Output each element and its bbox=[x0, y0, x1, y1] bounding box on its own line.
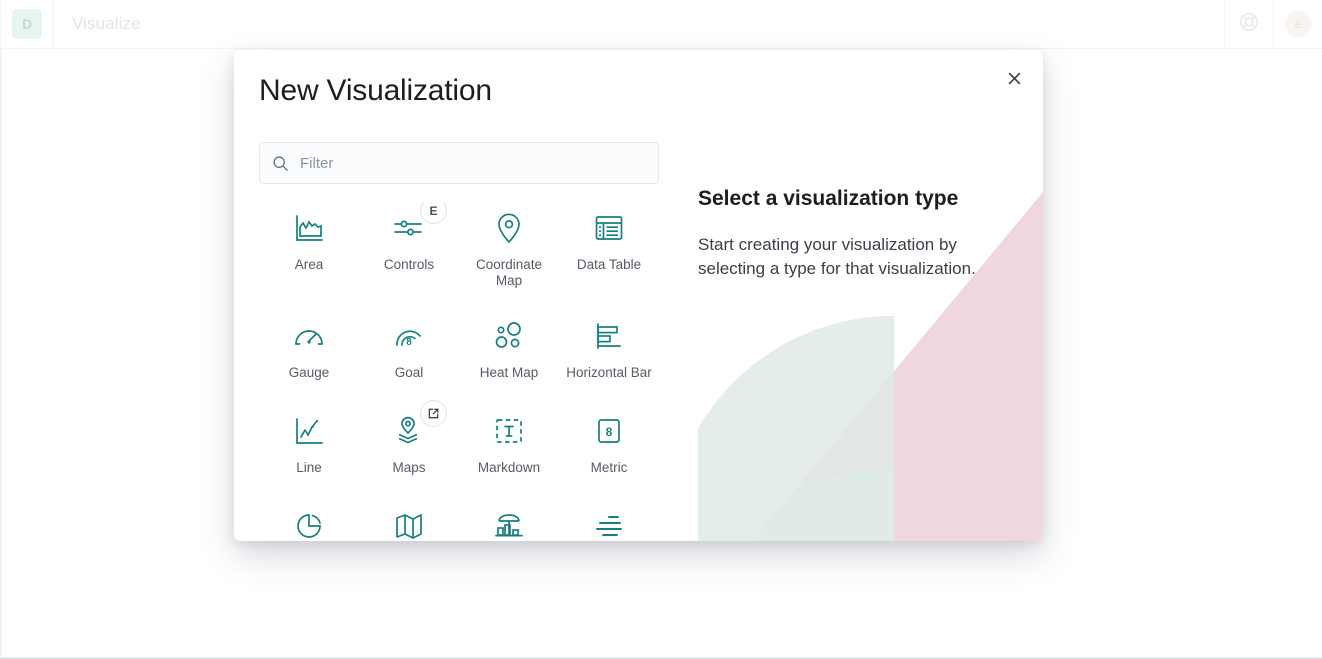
search-input[interactable] bbox=[300, 155, 646, 172]
close-button[interactable] bbox=[1003, 70, 1025, 92]
visualization-type-heat-map[interactable]: Heat Map bbox=[459, 310, 559, 384]
visualization-type-maps[interactable]: Maps bbox=[359, 405, 459, 479]
visualization-type-label: Goal bbox=[395, 365, 424, 381]
visualization-type-gauge[interactable]: Gauge bbox=[259, 310, 359, 384]
visualization-types-scroll-area[interactable]: Area EControls Coordinate Map Data Table bbox=[259, 202, 659, 541]
map-pin-icon bbox=[488, 208, 530, 248]
pie-chart-icon bbox=[288, 506, 330, 541]
info-panel-heading: Select a visualization type bbox=[698, 142, 1043, 211]
gauge-icon bbox=[288, 316, 330, 356]
visualization-type-label: Metric bbox=[591, 460, 628, 476]
external-link-icon bbox=[420, 400, 447, 427]
controls-icon: E bbox=[388, 208, 430, 248]
visualization-type-label: Controls bbox=[384, 257, 434, 273]
goal-icon: 8 bbox=[388, 316, 430, 356]
close-icon bbox=[1008, 72, 1021, 90]
visualization-type-line[interactable]: Line bbox=[259, 405, 359, 479]
visualization-type-label: Markdown bbox=[478, 460, 540, 476]
visualization-type-region-map[interactable] bbox=[359, 500, 459, 541]
app-root: D Visualize e New Vis bbox=[0, 0, 1322, 659]
visualization-type-label: Coordinate Map bbox=[463, 257, 555, 289]
help-button[interactable] bbox=[1225, 0, 1273, 49]
visualization-type-label: Heat Map bbox=[480, 365, 539, 381]
top-header: D Visualize e bbox=[0, 0, 1322, 49]
visualization-type-metric[interactable]: 8 Metric bbox=[559, 405, 659, 479]
page-left-edge bbox=[0, 49, 2, 657]
visualization-type-markdown[interactable]: Markdown bbox=[459, 405, 559, 479]
layered-map-icon bbox=[388, 411, 430, 451]
visualization-type-coordinate-map[interactable]: Coordinate Map bbox=[459, 202, 559, 289]
search-icon bbox=[272, 155, 289, 172]
visualization-type-horizontal-bar[interactable]: Horizontal Bar bbox=[559, 310, 659, 384]
visualization-type-controls[interactable]: EControls bbox=[359, 202, 459, 289]
svg-text:8: 8 bbox=[406, 337, 412, 348]
info-panel-body: Start creating your visualization by sel… bbox=[698, 233, 994, 281]
logo-badge[interactable]: D bbox=[12, 9, 42, 39]
visualization-type-label: Maps bbox=[392, 460, 425, 476]
visualization-type-label: Line bbox=[296, 460, 322, 476]
svg-text:8: 8 bbox=[606, 425, 613, 439]
table-icon bbox=[588, 208, 630, 248]
visualization-type-pie-chart[interactable] bbox=[259, 500, 359, 541]
avatar: e bbox=[1285, 11, 1311, 37]
heatmap-icon bbox=[488, 316, 530, 356]
visualization-types-grid: Area EControls Coordinate Map Data Table bbox=[259, 202, 659, 541]
line-chart-icon bbox=[288, 411, 330, 451]
lifebuoy-icon bbox=[1238, 11, 1260, 38]
markdown-text-icon bbox=[488, 411, 530, 451]
info-panel: Select a visualization type Start creati… bbox=[698, 142, 1043, 541]
horizontal-bar-icon bbox=[588, 316, 630, 356]
header-divider bbox=[0, 0, 1, 49]
visualization-type-label: Horizontal Bar bbox=[566, 365, 652, 381]
filter-field[interactable] bbox=[259, 142, 659, 184]
header-left-group: D Visualize bbox=[0, 0, 159, 48]
region-map-icon bbox=[388, 506, 430, 541]
visualization-type-goal[interactable]: 8 Goal bbox=[359, 310, 459, 384]
tag-cloud-icon bbox=[588, 506, 630, 541]
type-chooser-column: Area EControls Coordinate Map Data Table bbox=[259, 142, 659, 541]
app-title: Visualize bbox=[54, 14, 159, 34]
visualization-type-label: Area bbox=[295, 257, 324, 273]
area-chart-icon bbox=[288, 208, 330, 248]
visualization-type-label: Data Table bbox=[577, 257, 641, 273]
visualization-type-data-table[interactable]: Data Table bbox=[559, 202, 659, 289]
user-menu-button[interactable]: e bbox=[1274, 0, 1322, 49]
metric-icon: 8 bbox=[588, 411, 630, 451]
new-visualization-modal: New Visualization bbox=[234, 50, 1043, 541]
visual-builder-icon bbox=[488, 506, 530, 541]
visualization-type-visual-builder[interactable] bbox=[459, 500, 559, 541]
modal-title: New Visualization bbox=[259, 74, 492, 108]
visualization-type-area[interactable]: Area bbox=[259, 202, 359, 289]
visualization-type-tag-cloud[interactable] bbox=[559, 500, 659, 541]
visualization-type-label: Gauge bbox=[289, 365, 330, 381]
experimental-badge: E bbox=[420, 202, 447, 224]
